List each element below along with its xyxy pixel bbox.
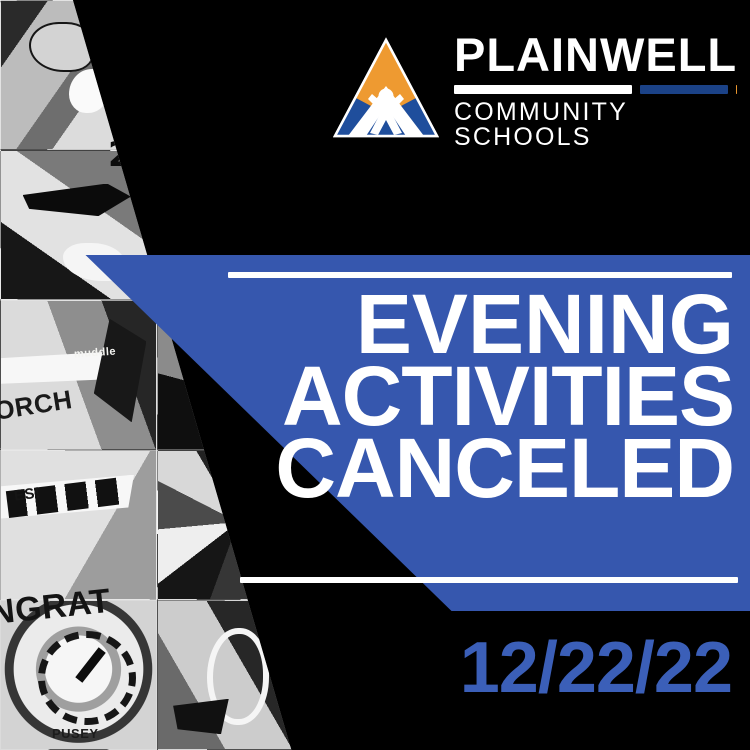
logo-accent-bars [454,85,737,94]
mural-panel [0,0,157,150]
banner-rule-bottom [240,577,738,583]
headline-line-3: CANCELED [0,432,734,504]
district-logo-lockup: PLAINWELL COMMUNITY SCHOOLS [332,34,736,144]
announcement-date: 12/22/22 [460,632,732,704]
white-bar-icon [454,85,632,94]
logo-wordmark: PLAINWELL COMMUNITY SCHOOLS [454,29,737,150]
poster-canvas: 2+2 muddle ORCH NGRAT ES! PUSEY EVENING … [0,0,750,750]
logo-subtitle: COMMUNITY SCHOOLS [454,100,737,150]
announcement-headline: EVENING ACTIVITIES CANCELED [0,288,750,505]
navy-bar-icon [640,85,728,94]
logo-title: PLAINWELL [454,31,737,78]
plainwell-triangle-icon [332,36,440,142]
mural-panel [157,600,314,750]
orange-bar-icon [736,85,737,94]
mural-panel [157,0,314,150]
mural-panel [313,600,470,750]
mural-panel [0,600,157,750]
